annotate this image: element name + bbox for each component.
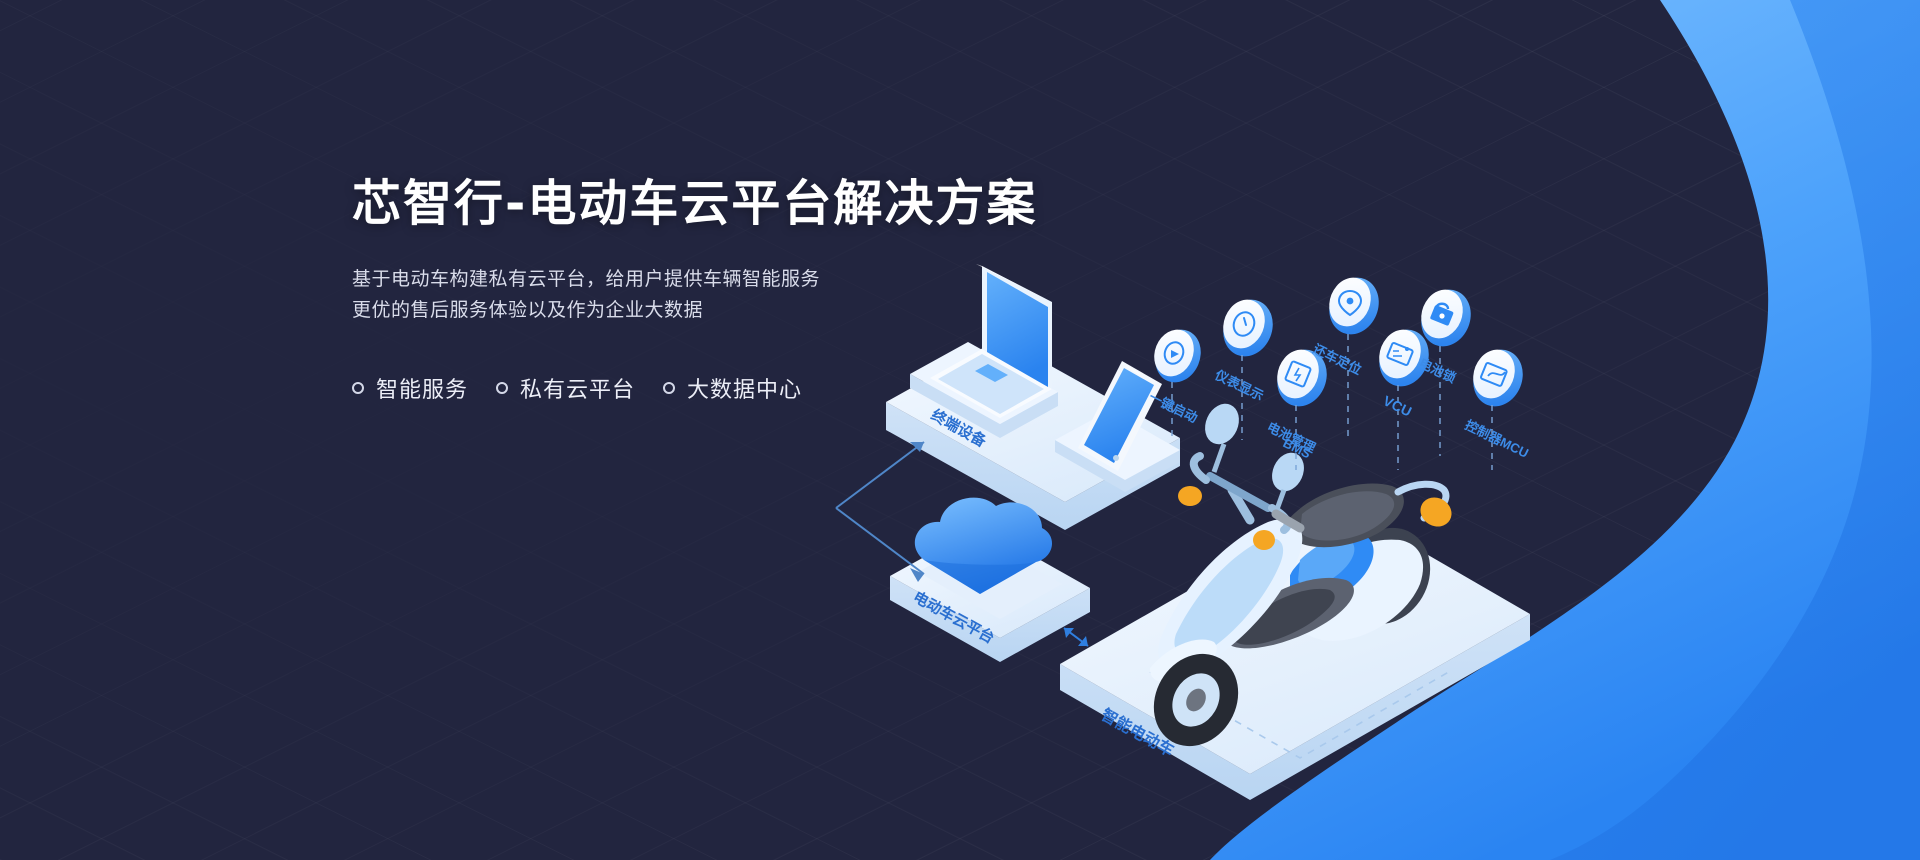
feature-chip-group: 一键启动 仪表显示 — [1147, 270, 1531, 470]
list-item: 私有云平台 — [496, 372, 635, 404]
page-title: 芯智行-电动车云平台解决方案 — [352, 178, 1032, 231]
isometric-illustration: 终端设备 电动车云平台 智能电动车 — [0, 0, 1920, 860]
chip-label-battery-lock: 电池锁 — [1417, 355, 1459, 386]
chip-label-mcu: 控制器MCU — [1463, 417, 1531, 461]
chip-label-power: 一键启动 — [1147, 389, 1200, 425]
chip-mcu[interactable]: 控制器MCU — [1463, 342, 1531, 470]
hero-subtitle-line-2: 更优的售后服务体验以及作为企业大数据 — [352, 296, 1032, 327]
hero-banner: 芯智行-电动车云平台解决方案 基于电动车构建私有云平台，给用户提供车辆智能服务 … — [0, 0, 1920, 860]
chip-label-vcu: VCU — [1381, 392, 1415, 419]
circle-bullet-icon — [663, 382, 675, 394]
chip-return-locate[interactable]: 还车定位 — [1310, 270, 1387, 442]
hero-subtitle-line-1: 基于电动车构建私有云平台，给用户提供车辆智能服务 — [352, 265, 1032, 296]
hero-feature-list: 智能服务 私有云平台 大数据中心 — [352, 372, 1032, 404]
hero-feature-label: 智能服务 — [376, 372, 468, 404]
chip-label-dashboard: 仪表显示 — [1212, 367, 1266, 404]
circle-bullet-icon — [496, 382, 508, 394]
hero-feature-label: 私有云平台 — [520, 372, 635, 404]
hero-feature-label: 大数据中心 — [687, 372, 802, 404]
list-item: 大数据中心 — [663, 372, 802, 404]
hero-subtitle: 基于电动车构建私有云平台，给用户提供车辆智能服务 更优的售后服务体验以及作为企业… — [352, 265, 1032, 327]
list-item: 智能服务 — [352, 372, 468, 404]
chip-vcu[interactable]: VCU — [1371, 322, 1437, 470]
hero-copy: 芯智行-电动车云平台解决方案 基于电动车构建私有云平台，给用户提供车辆智能服务 … — [352, 178, 1032, 404]
circle-bullet-icon — [352, 382, 364, 394]
